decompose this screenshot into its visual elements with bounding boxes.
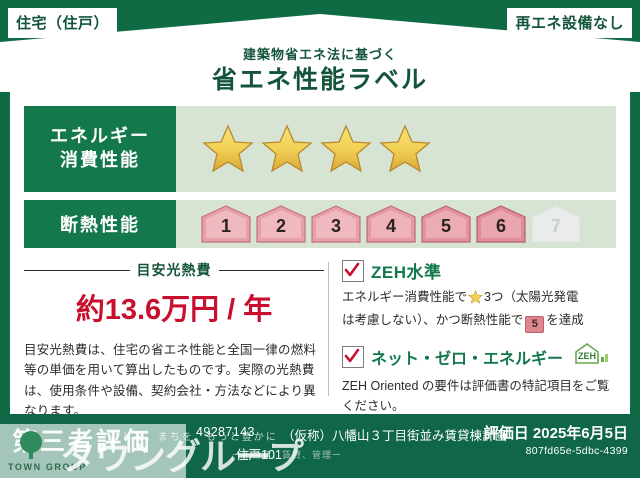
insulation-level-badge: 1 xyxy=(200,204,252,244)
insulation-level-badge: 3 xyxy=(310,204,362,244)
energy-label-line1: エネルギー xyxy=(50,125,150,149)
insulation-level-value: 1 xyxy=(200,216,252,237)
insulation-level-value: 2 xyxy=(255,216,307,237)
net-zero-heading: ネット・ゼロ・エネルギー ZEH xyxy=(342,341,616,372)
zeh-standard-body: エネルギー消費性能で3つ（太陽光発電 は考慮しない）、かつ断熱性能で5を達成 xyxy=(342,287,616,333)
utility-cost-label: 目安光熱費 xyxy=(137,260,212,280)
zeh-standard-text-3: を達成 xyxy=(546,313,584,327)
star-icon xyxy=(379,124,431,174)
insulation-performance-label: 断熱性能 xyxy=(24,200,176,248)
zeh-standard-text-2: は考慮しない）、かつ断熱性能で xyxy=(342,313,523,327)
zeh-standard-title: ZEH水準 xyxy=(371,258,442,283)
zeh-standard-text-stars: 3つ（太陽光発電 xyxy=(484,290,578,304)
net-zero-title: ネット・ゼロ・エネルギー xyxy=(371,345,563,369)
star-icon xyxy=(261,124,313,174)
insulation-level-value: 7 xyxy=(530,216,582,237)
insulation-level-scale: 1 2 3 4 5 xyxy=(176,204,582,244)
utility-cost-value: 約13.6万円 / 年 xyxy=(24,286,324,328)
evaluation-uid: 807fd65e-5dbc-4399 xyxy=(526,445,628,457)
label-header: 住宅（住戸） 再エネ設備なし 建築物省エネ法に基づく 省エネ性能ラベル xyxy=(0,0,640,92)
insulation-performance-row: 断熱性能 1 2 3 4 xyxy=(24,200,616,248)
energy-star-rating xyxy=(176,124,431,174)
utility-cost-note: 目安光熱費は、住宅の省エネ性能と全国一律の燃料等の単価を用いて算出したものです。… xyxy=(24,340,324,421)
zeh-house-logo-icon: ZEH xyxy=(572,341,612,372)
insulation-badge-inline: 5 xyxy=(525,316,544,333)
zeh-section: ZEH水準 エネルギー消費性能で3つ（太陽光発電 は考慮しない）、かつ断熱性能で… xyxy=(342,256,616,416)
insulation-level-badge: 4 xyxy=(365,204,417,244)
section-divider xyxy=(328,262,329,396)
heading-rule-left xyxy=(24,270,130,271)
energy-label-page: 住宅（住戸） 再エネ設備なし 建築物省エネ法に基づく 省エネ性能ラベル エネルギ… xyxy=(0,0,640,478)
heading-rule-right xyxy=(219,270,325,271)
tag-renewable-equipment: 再エネ設備なし xyxy=(507,8,632,38)
energy-label-line2: 消費性能 xyxy=(60,149,140,173)
insulation-level-badge: 5 xyxy=(420,204,472,244)
page-title: 省エネ性能ラベル xyxy=(0,60,640,96)
zeh-standard-heading: ZEH水準 xyxy=(342,258,616,283)
energy-performance-label: エネルギー 消費性能 xyxy=(24,106,176,192)
net-zero-block: ネット・ゼロ・エネルギー ZEH ZEH Oriented の要件は評価書の特記… xyxy=(342,341,616,416)
star-icon xyxy=(320,124,372,174)
label-body-panel: エネルギー 消費性能 xyxy=(10,92,630,414)
energy-performance-row: エネルギー 消費性能 xyxy=(24,106,616,192)
insulation-level-value: 3 xyxy=(310,216,362,237)
label-lower-section: 目安光熱費 約13.6万円 / 年 目安光熱費は、住宅の省エネ性能と全国一律の燃… xyxy=(24,256,616,402)
insulation-level-badge: 6 xyxy=(475,204,527,244)
zeh-standard-text-1: エネルギー消費性能で xyxy=(342,290,467,304)
checkmark-icon xyxy=(342,260,364,282)
svg-text:ZEH: ZEH xyxy=(578,351,596,361)
watermark-sub: ー不動産、賃貸、管理ー xyxy=(232,448,342,461)
evaluation-date: 評価日 2025年6月5日 xyxy=(484,422,628,443)
insulation-level-value: 4 xyxy=(365,216,417,237)
zeh-standard-block: ZEH水準 エネルギー消費性能で3つ（太陽光発電 は考慮しない）、かつ断熱性能で… xyxy=(342,258,616,333)
utility-cost-heading: 目安光熱費 xyxy=(24,260,324,280)
insulation-level-value: 6 xyxy=(475,216,527,237)
utility-cost-section: 目安光熱費 約13.6万円 / 年 目安光熱費は、住宅の省エネ性能と全国一律の燃… xyxy=(24,256,324,402)
insulation-level-badge-inactive: 7 xyxy=(530,204,582,244)
tag-building-type: 住宅（住戸） xyxy=(8,8,117,38)
tree-logo-icon xyxy=(14,430,48,460)
star-icon xyxy=(468,290,483,310)
insulation-level-value: 5 xyxy=(420,216,472,237)
insulation-level-badge: 2 xyxy=(255,204,307,244)
checkmark-icon xyxy=(342,346,364,368)
star-icon xyxy=(202,124,254,174)
net-zero-body: ZEH Oriented の要件は評価書の特記項目をご覧ください。 xyxy=(342,376,616,416)
